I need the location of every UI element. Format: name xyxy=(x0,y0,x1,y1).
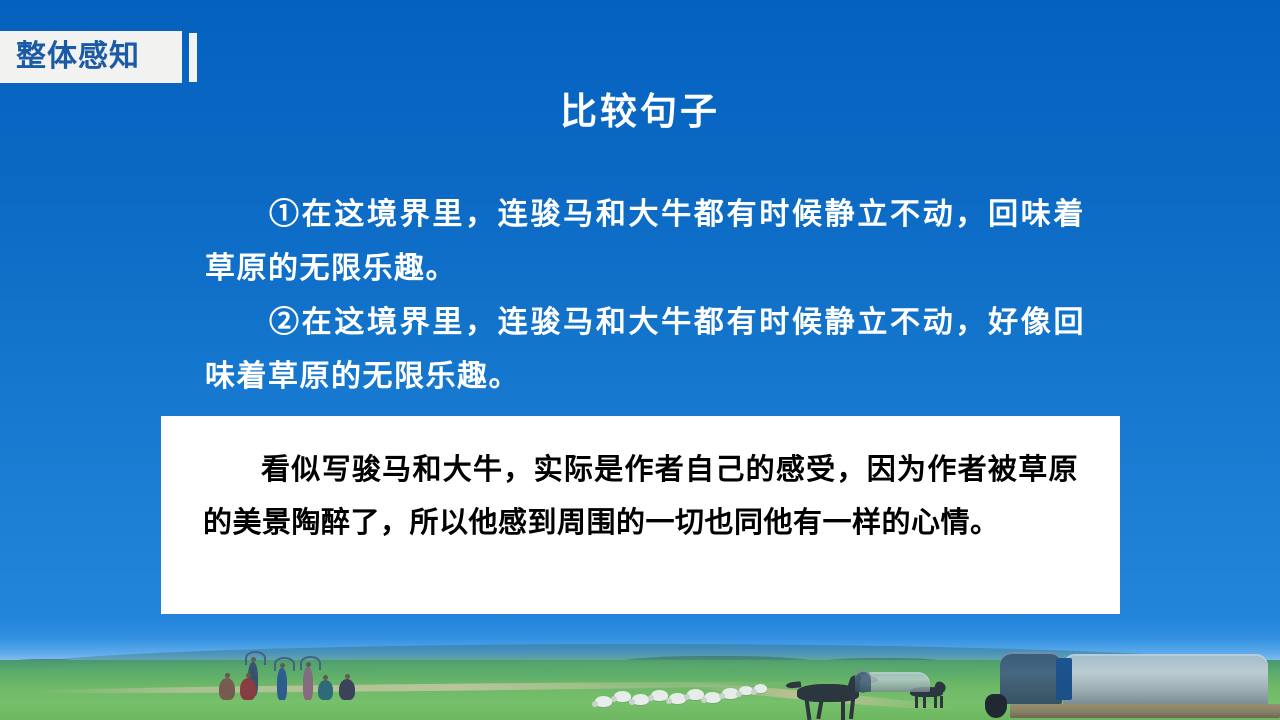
photo-person-dancing-2 xyxy=(277,668,287,700)
photo-person-sitting-2 xyxy=(240,678,256,700)
page-title: 比较句子 xyxy=(0,92,1280,135)
explanation-text: 看似写骏马和大牛，实际是作者自己的感受，因为作者被草原的美景陶醉了，所以他感到周… xyxy=(203,444,1078,550)
photo-person-head xyxy=(225,673,230,678)
photo-horse-near-leg xyxy=(841,699,845,720)
photo-person-head xyxy=(323,675,328,680)
photo-person-sitting-3 xyxy=(318,680,333,700)
photo-person-head xyxy=(251,657,256,662)
section-badge-label: 整体感知 xyxy=(16,42,140,72)
slide: 整体感知 比较句子 ①在这境界里，连骏马和大牛都有时候静立不动，回味着草原的无限… xyxy=(0,0,1280,720)
photo-yurt-door xyxy=(1056,658,1072,700)
photo-yurt-distant-door xyxy=(855,670,871,692)
section-badge: 整体感知 xyxy=(0,31,182,83)
photo-person-head xyxy=(280,663,285,668)
photo-pot xyxy=(985,694,1007,718)
photo-sheep xyxy=(754,684,767,693)
photo-horse-far-leg xyxy=(934,696,937,708)
sentence-list: ①在这境界里，连骏马和大牛都有时候静立不动，回味着草原的无限乐趣。 ②在这境界里… xyxy=(205,188,1085,404)
photo-yurt-right xyxy=(1063,654,1268,704)
photo-person-head xyxy=(306,662,311,667)
grassland-photo-strip xyxy=(0,620,1280,720)
photo-fence xyxy=(1010,704,1280,718)
sentence-item-2: ②在这境界里，连骏马和大牛都有时候静立不动，好像回味着草原的无限乐趣。 xyxy=(205,296,1085,404)
photo-person-sitting-4 xyxy=(339,679,355,700)
badge-accent-bar xyxy=(189,33,197,82)
photo-person-dancing-3 xyxy=(303,667,313,700)
photo-horse-far-leg xyxy=(940,696,943,708)
photo-person-head xyxy=(345,674,350,679)
photo-sheep xyxy=(595,696,612,707)
photo-yurt-left xyxy=(1000,652,1062,704)
photo-horse-far-leg xyxy=(915,696,918,708)
explanation-box: 看似写骏马和大牛，实际是作者自己的感受，因为作者被草原的美景陶醉了，所以他感到周… xyxy=(161,416,1120,614)
photo-person-sitting-1 xyxy=(219,678,235,700)
sentence-item-1: ①在这境界里，连骏马和大牛都有时候静立不动，回味着草原的无限乐趣。 xyxy=(205,188,1085,296)
photo-horse-far-leg xyxy=(923,696,926,708)
photo-sheep xyxy=(632,694,649,705)
photo-person-head xyxy=(246,673,251,678)
